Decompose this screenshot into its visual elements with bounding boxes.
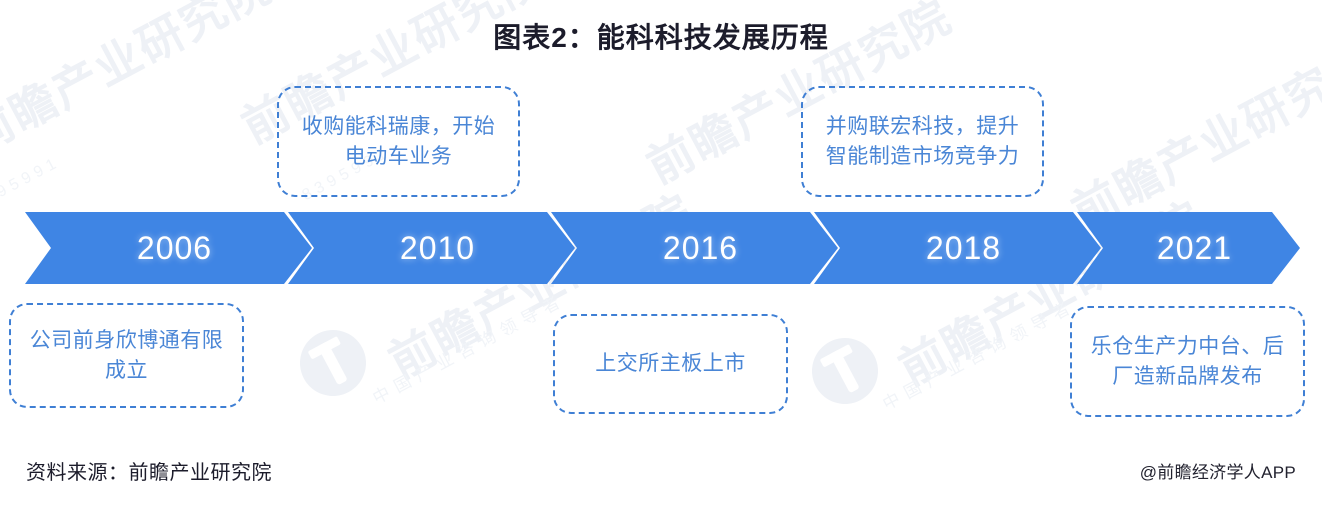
timeline-band: 2006 2010 2016 2018 2021 <box>25 212 1300 284</box>
timeline-callout-2010: 收购能科瑞康，开始电动车业务 <box>277 86 520 197</box>
timeline-year-label: 2021 <box>1157 230 1232 267</box>
watermark-logo-icon <box>800 326 889 415</box>
timeline-callout-2016: 上交所主板上市 <box>553 314 788 414</box>
timeline-chevron-2021[interactable]: 2021 <box>1077 212 1300 284</box>
timeline-callout-text: 上交所主板上市 <box>569 349 772 379</box>
timeline-chevron-2018[interactable]: 2018 <box>814 212 1101 284</box>
timeline-callout-text: 并购联宏科技，提升智能制造市场竞争力 <box>817 112 1028 172</box>
timeline-year-label: 2018 <box>926 230 1001 267</box>
timeline-callout-text: 公司前身欣博通有限成立 <box>25 326 228 386</box>
timeline-chevron-2006[interactable]: 2006 <box>25 212 312 284</box>
timeline-callout-2018: 并购联宏科技，提升智能制造市场竞争力 <box>801 86 1044 197</box>
timeline-callout-2006: 公司前身欣博通有限成立 <box>9 303 244 408</box>
timeline-year-label: 2016 <box>663 230 738 267</box>
timeline-callout-text: 乐仓生产力中台、后厂造新品牌发布 <box>1086 332 1289 392</box>
timeline-callout-2021: 乐仓生产力中台、后厂造新品牌发布 <box>1070 306 1305 417</box>
source-note: 资料来源：前瞻产业研究院 <box>26 456 272 485</box>
page-title: 图表2：能科科技发展历程 <box>0 16 1322 56</box>
watermark-code: 8395991 <box>0 154 63 214</box>
timeline-chevron-2010[interactable]: 2010 <box>288 212 575 284</box>
watermark-subtitle: 中国产业咨询领导者 <box>370 291 569 407</box>
watermark-logo-icon <box>288 318 377 407</box>
timeline-year-label: 2006 <box>137 230 212 267</box>
timeline-chevron-2016[interactable]: 2016 <box>551 212 838 284</box>
watermark-subtitle: 中国产业咨询领导者 <box>880 297 1079 413</box>
app-credit: @前瞻经济学人APP <box>1140 458 1296 483</box>
watermark-brand-text: 前瞻产业研究院 <box>1065 37 1322 235</box>
timeline-callout-text: 收购能科瑞康，开始电动车业务 <box>293 112 504 172</box>
timeline-year-label: 2010 <box>400 230 475 267</box>
